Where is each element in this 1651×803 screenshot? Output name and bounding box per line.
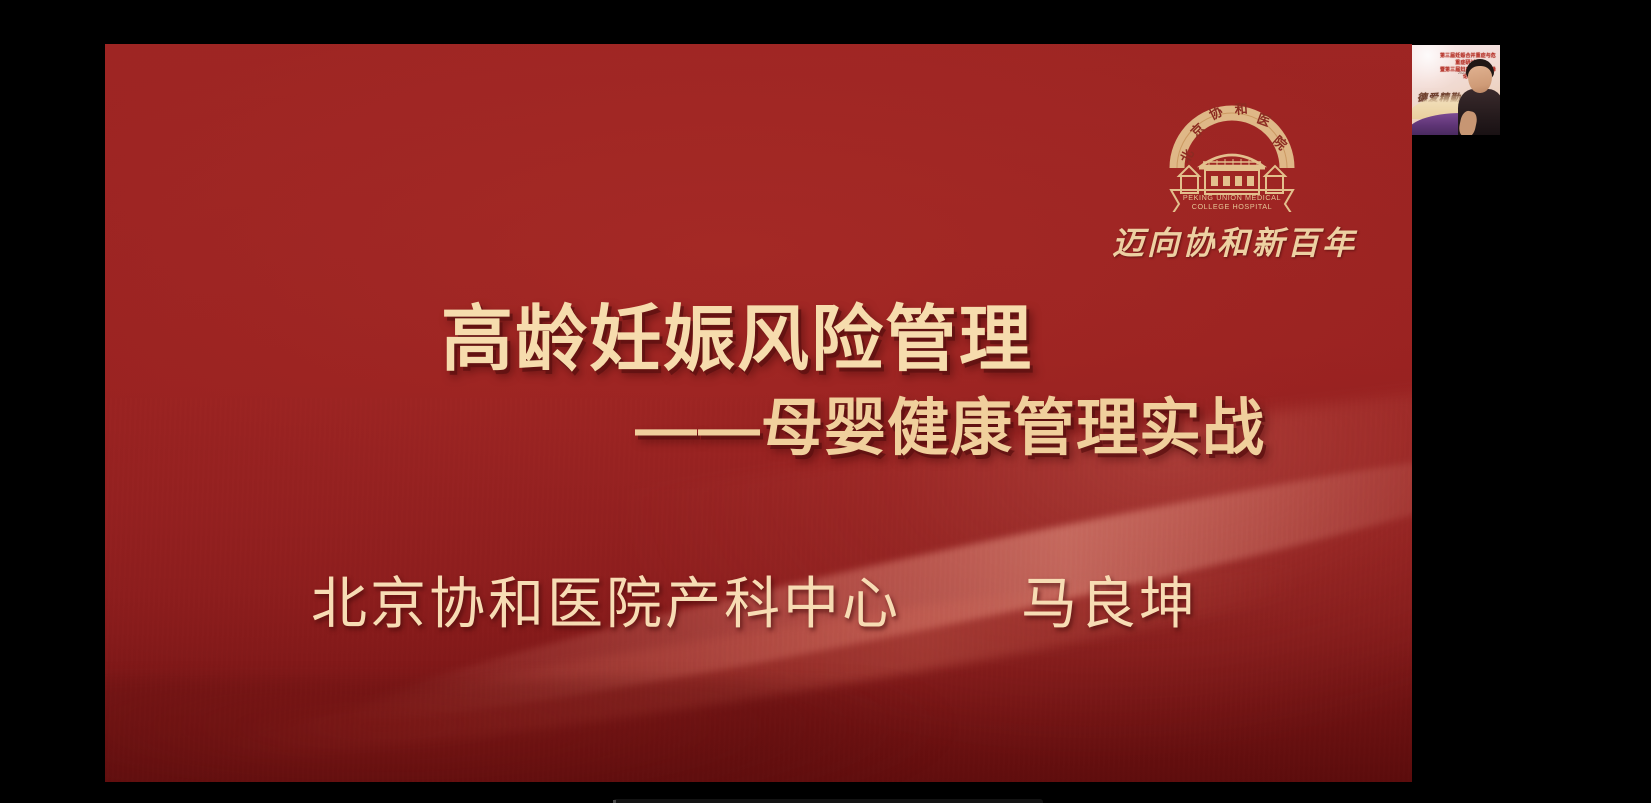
presentation-slide[interactable]: 北 京 协 和 医 院 <box>105 44 1412 782</box>
svg-text:PEKING UNION MEDICAL: PEKING UNION MEDICAL <box>1183 193 1281 202</box>
svg-text:COLLEGE HOSPITAL: COLLEGE HOSPITAL <box>1192 202 1273 211</box>
presenter-figure <box>1458 59 1500 135</box>
player-control-sliver[interactable] <box>613 799 1043 803</box>
logo-slogan-text: 迈向协和新百年 <box>1112 218 1352 264</box>
svg-text:和: 和 <box>1234 101 1248 117</box>
hospital-logo-block: 北 京 协 和 医 院 <box>1112 72 1352 264</box>
presenter-name: 马良坤 <box>1021 574 1198 636</box>
presenter-webcam-overlay[interactable]: 第三届妊娠合并重症与危重症研讨会 暨第三届妇产科重症高峰论坛 2023年 德爱精… <box>1412 45 1500 135</box>
presenter-line: 北京协和医院产科中心 马良坤 <box>311 559 1198 640</box>
slide-title: 高龄妊娠风险管理 <box>441 280 1033 385</box>
slide-subtitle: ——母婴健康管理实战 <box>635 377 1265 467</box>
screen-viewport: 北 京 协 和 医 院 <box>0 0 1651 803</box>
pumch-emblem-icon: 北 京 协 和 医 院 <box>1157 72 1307 212</box>
presenter-affiliation: 北京协和医院产科中心 <box>311 574 901 636</box>
bottom-letterbox <box>0 782 1651 803</box>
